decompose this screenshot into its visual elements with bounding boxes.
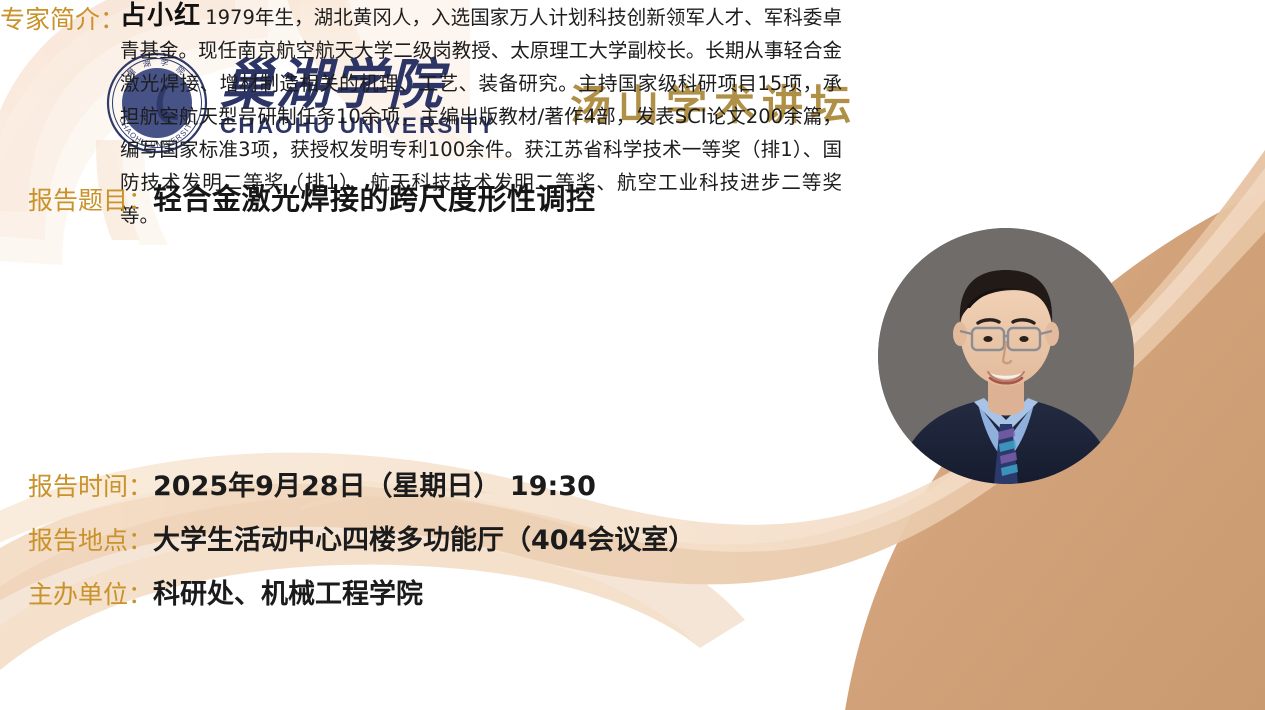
lecture-place-value: 大学生活动中心四楼多功能厅（404会议室） <box>153 518 695 557</box>
speaker-name: 占小红 <box>120 1 201 31</box>
lecture-host-row: 主办单位： 科研处、机械工程学院 <box>28 572 423 611</box>
lecture-title-row: 报告题目： 轻合金激光焊接的跨尺度形性调控 <box>28 176 596 218</box>
lecture-title-label: 报告题目： <box>28 181 153 217</box>
lecture-time-row: 报告时间： 2025年9月28日（星期日） 19:30 <box>28 464 596 503</box>
lecture-place-label: 报告地点： <box>28 521 153 557</box>
lecture-time-label: 报告时间： <box>28 467 153 503</box>
poster-root: 1977 CHAOHU UNIVERSITY 巢 湖 学 院 巢湖学院 CHAO… <box>0 0 1265 710</box>
lecture-host-value: 科研处、机械工程学院 <box>153 572 423 611</box>
lecture-time-value: 2025年9月28日（星期日） 19:30 <box>153 464 596 503</box>
speaker-portrait-image <box>878 228 1134 484</box>
speaker-portrait <box>878 228 1134 484</box>
lecture-host-label: 主办单位： <box>28 575 153 611</box>
lecture-title-value: 轻合金激光焊接的跨尺度形性调控 <box>153 176 596 218</box>
lecture-place-row: 报告地点： 大学生活动中心四楼多功能厅（404会议室） <box>28 518 695 557</box>
speaker-bio-label: 专家简介： <box>0 0 125 36</box>
